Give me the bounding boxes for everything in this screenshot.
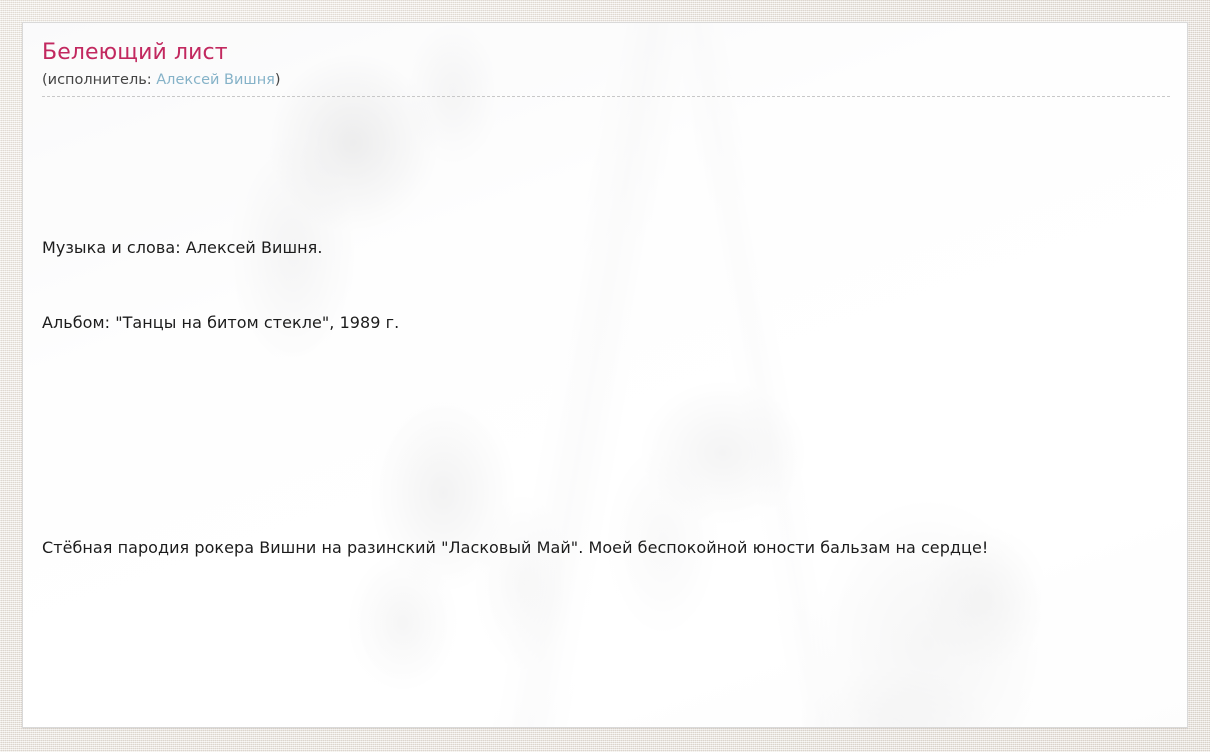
credit-line: Альбом: "Танцы на битом стекле", 1989 г. — [42, 310, 1187, 335]
verse-1: Передо мною на столе лежит белеющий лист… — [42, 710, 1187, 728]
lyrics-sheet: Белеющий лист (исполнитель: Алексей Вишн… — [22, 22, 1188, 728]
credits-block: Музыка и слова: Алексей Вишня. Альбом: "… — [42, 185, 1187, 385]
performer-line: (исполнитель: Алексей Вишня) — [42, 70, 1170, 97]
page-content: Белеющий лист (исполнитель: Алексей Вишн… — [23, 23, 1187, 728]
note-line: Стёбная пародия рокера Вишни на разински… — [42, 535, 1187, 560]
lyrics-body: Музыка и слова: Алексей Вишня. Альбом: "… — [42, 110, 1187, 728]
page-title: Белеющий лист — [42, 39, 1187, 67]
performer-suffix-label: ) — [275, 72, 281, 88]
note-block: Стёбная пародия рокера Вишни на разински… — [42, 485, 1187, 610]
artist-link[interactable]: Алексей Вишня — [156, 72, 275, 88]
performer-prefix-label: (исполнитель: — [42, 72, 156, 88]
credit-line: Музыка и слова: Алексей Вишня. — [42, 235, 1187, 260]
